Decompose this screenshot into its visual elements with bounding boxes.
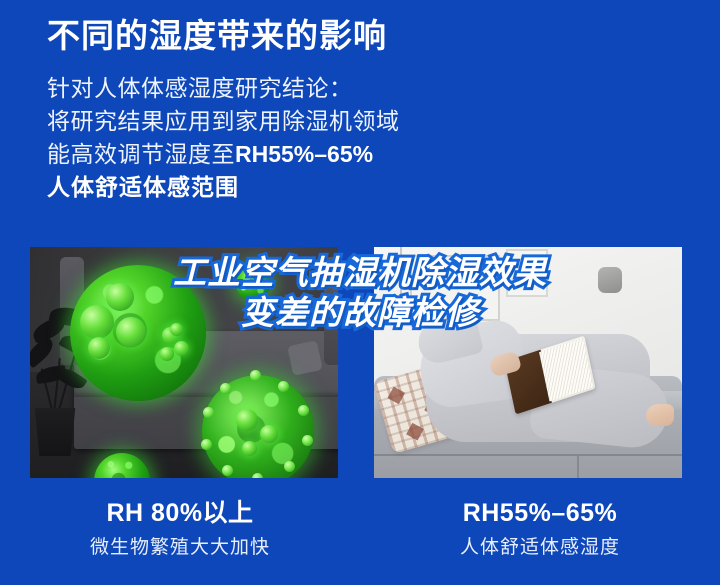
caption-value-left: RH 80%以上 <box>0 496 360 530</box>
image-panels <box>0 247 720 478</box>
caption-description-left: 微生物繁殖大大加快 <box>0 535 360 561</box>
light-sofa-seam-vertical <box>577 456 579 478</box>
microbe-texture <box>236 267 270 301</box>
poster-root: 不同的湿度带来的影响 针对人体体感湿度研究结论： 将研究结果应用到家用除湿机领域… <box>0 0 720 585</box>
panel-comfort-humidity-photo <box>374 247 682 478</box>
header-line-3-highlight: RH55%–65% <box>235 141 373 167</box>
dark-sofa-arm-right <box>324 257 338 365</box>
header-line-3: 能高效调节湿度至RH55%–65% <box>47 138 687 171</box>
dark-room-plant-pot <box>32 408 78 456</box>
wall-lamp-head <box>390 309 412 323</box>
microbe-small-top <box>236 267 270 301</box>
person-foot <box>646 404 674 426</box>
caption-column-high-humidity: RH 80%以上 微生物繁殖大大加快 <box>0 496 360 561</box>
header-block: 不同的湿度带来的影响 针对人体体感湿度研究结论： 将研究结果应用到家用除湿机领域… <box>47 14 687 204</box>
wall-speaker <box>598 267 622 293</box>
caption-description-right: 人体舒适体感湿度 <box>360 535 720 561</box>
panel-high-humidity-photo <box>30 247 338 478</box>
wall-lamp-stem <box>400 247 402 311</box>
dark-room-scene <box>30 247 338 478</box>
wall-picture-frame-small <box>506 249 548 297</box>
header-line-1: 针对人体体感湿度研究结论： <box>47 72 687 105</box>
wall-picture-frame <box>410 255 500 321</box>
header-line-4: 人体舒适体感范围 <box>47 171 687 204</box>
dark-sofa-pillow <box>287 340 323 376</box>
book-pages <box>539 338 593 401</box>
caption-column-comfort-humidity: RH55%–65% 人体舒适体感湿度 <box>360 496 720 561</box>
microbe-texture <box>202 375 314 478</box>
caption-value-right: RH55%–65% <box>360 496 720 530</box>
header-line-3-prefix: 能高效调节湿度至 <box>47 141 235 167</box>
bottom-captions: RH 80%以上 微生物繁殖大大加快 RH55%–65% 人体舒适体感湿度 <box>0 496 720 561</box>
header-body-lines: 针对人体体感湿度研究结论： 将研究结果应用到家用除湿机领域 能高效调节湿度至RH… <box>47 72 687 204</box>
microbe-cluster-large <box>70 265 206 401</box>
header-line-2: 将研究结果应用到家用除湿机领域 <box>47 105 687 138</box>
light-room-scene <box>374 247 682 478</box>
page-title: 不同的湿度带来的影响 <box>47 14 687 58</box>
microbe-corona <box>202 375 314 478</box>
light-sofa-seam <box>374 454 682 456</box>
